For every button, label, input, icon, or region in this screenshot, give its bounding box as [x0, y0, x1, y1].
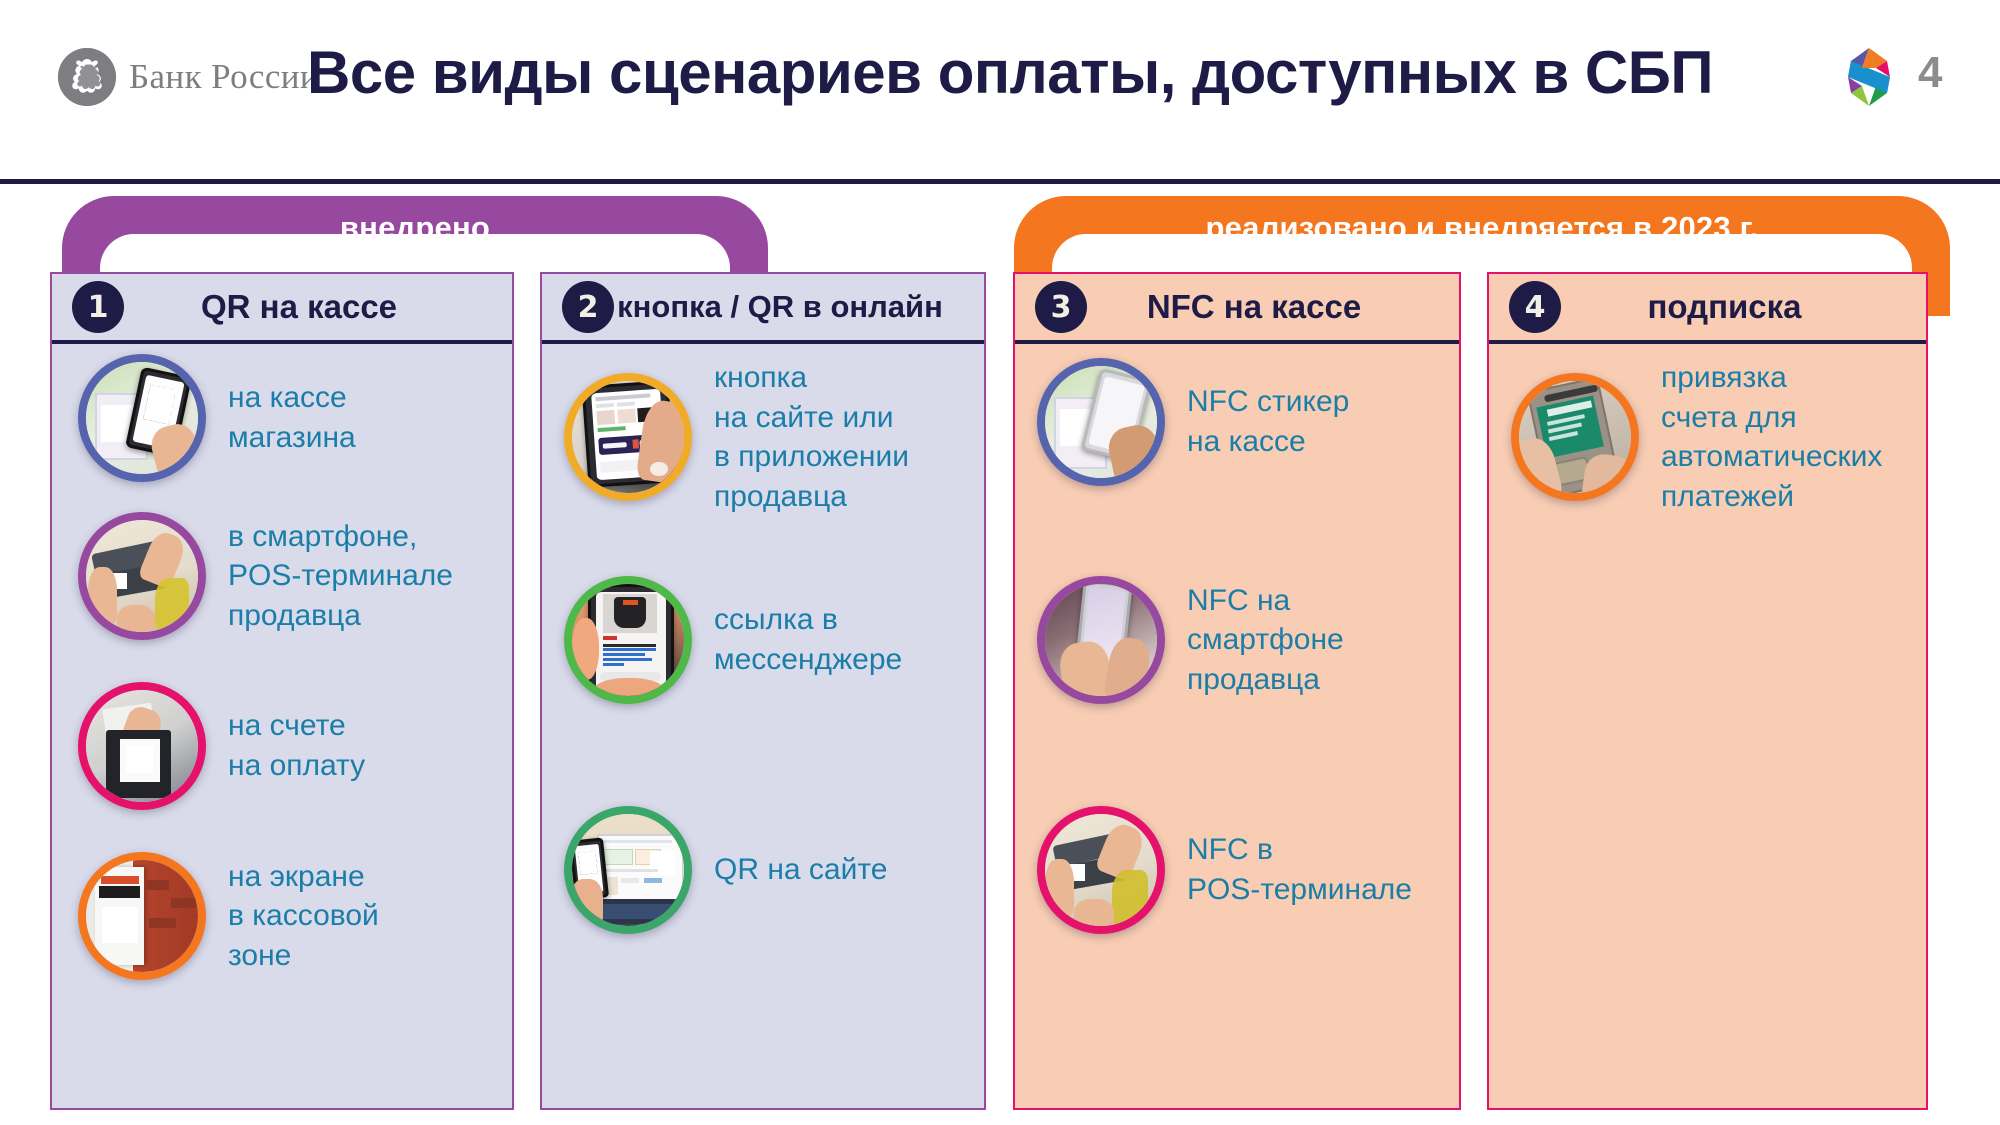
- scenario-column-subscription[interactable]: 4 подписка привязка счета для автома: [1487, 272, 1928, 1110]
- scenario-item-label: в смартфоне, POS-терминале продавца: [228, 517, 453, 636]
- scenario-column-button-qr-online[interactable]: 2 кнопка / QR в онлайн: [540, 272, 986, 1110]
- column-body: на кассе магазина в смартфоне, POS-терми…: [52, 344, 512, 1108]
- sbp-logo: [1838, 46, 1900, 108]
- column-number-badge: 1: [72, 281, 124, 333]
- group-banner-in-progress-label: реализовано и внедряется в 2023 г.: [1014, 210, 1950, 246]
- qr-scan-phone-at-counter-image: [78, 354, 206, 482]
- column-number-badge: 2: [562, 281, 614, 333]
- column-header: 2 кнопка / QR в онлайн: [542, 274, 984, 344]
- scenario-item-label: кнопка на сайте или в приложении продавц…: [714, 358, 909, 516]
- scenario-item-label: на кассе магазина: [228, 378, 356, 457]
- scenario-item[interactable]: кнопка на сайте или в приложении продавц…: [564, 358, 909, 516]
- scenario-item-label: ссылка в мессенджере: [714, 600, 902, 679]
- autopayment-phone-screen-image: [1511, 373, 1639, 501]
- scenario-column-nfc-at-checkout[interactable]: 3 NFC на кассе NFC стикер на кассе: [1013, 272, 1461, 1110]
- column-header: 1 QR на кассе: [52, 274, 512, 344]
- bank-of-russia-brand: Банк России: [58, 48, 319, 106]
- scenario-item-label: на экране в кассовой зоне: [228, 857, 379, 976]
- nfc-in-pos-terminal-image: [1037, 806, 1165, 934]
- page-title: Все виды сценариев оплаты, доступных в С…: [300, 38, 1720, 107]
- column-body: кнопка на сайте или в приложении продавц…: [542, 344, 984, 1108]
- payment-link-in-messenger-image: [564, 576, 692, 704]
- column-body: привязка счета для автоматических платеж…: [1489, 344, 1926, 1108]
- scenario-item[interactable]: на счете на оплату: [78, 682, 365, 810]
- scenario-item-label: привязка счета для автоматических платеж…: [1661, 358, 1882, 516]
- scenario-item-label: NFC в POS-терминале: [1187, 830, 1412, 909]
- column-header: 3 NFC на кассе: [1015, 274, 1459, 344]
- group-banner-implemented-label: внедрено: [62, 210, 768, 246]
- scenario-item[interactable]: на кассе магазина: [78, 354, 356, 482]
- invoice-folder-with-qr-image: [78, 682, 206, 810]
- nfc-on-merchant-smartphone-image: [1037, 576, 1165, 704]
- scenario-item[interactable]: на экране в кассовой зоне: [78, 852, 379, 980]
- brand-name: Банк России: [129, 57, 319, 97]
- page-number: 4: [1918, 48, 1942, 98]
- column-header: 4 подписка: [1489, 274, 1926, 344]
- scenario-item[interactable]: QR на сайте: [564, 806, 887, 934]
- scenario-item[interactable]: в смартфоне, POS-терминале продавца: [78, 512, 453, 640]
- scenario-item-label: NFC на смартфоне продавца: [1187, 581, 1344, 700]
- scenario-item[interactable]: NFC стикер на кассе: [1037, 358, 1349, 486]
- cbr-eagle-emblem: [58, 48, 116, 106]
- slide-header: Банк России Все виды сценариев оплаты, д…: [0, 0, 2000, 183]
- column-number-badge: 4: [1509, 281, 1561, 333]
- scenario-item[interactable]: NFC на смартфоне продавца: [1037, 576, 1344, 704]
- header-divider: [0, 179, 2000, 184]
- ticket-poster-with-qr-image: [78, 852, 206, 980]
- column-number-badge: 3: [1035, 281, 1087, 333]
- nfc-sticker-at-checkout-image: [1037, 358, 1165, 486]
- scenario-item-label: на счете на оплату: [228, 706, 365, 785]
- column-body: NFC стикер на кассе NFC на смартфоне про…: [1015, 344, 1459, 1108]
- scenario-item-label: QR на сайте: [714, 850, 887, 890]
- pos-terminal-in-hands-image: [78, 512, 206, 640]
- qr-on-website-laptop-image: [564, 806, 692, 934]
- scenario-column-qr-at-checkout[interactable]: 1 QR на кассе на кассе магазина: [50, 272, 514, 1110]
- pay-button-in-mobile-browser-image: [564, 373, 692, 501]
- scenario-item[interactable]: привязка счета для автоматических платеж…: [1511, 358, 1882, 516]
- scenario-item[interactable]: ссылка в мессенджере: [564, 576, 902, 704]
- scenario-item[interactable]: NFC в POS-терминале: [1037, 806, 1412, 934]
- scenario-item-label: NFC стикер на кассе: [1187, 382, 1349, 461]
